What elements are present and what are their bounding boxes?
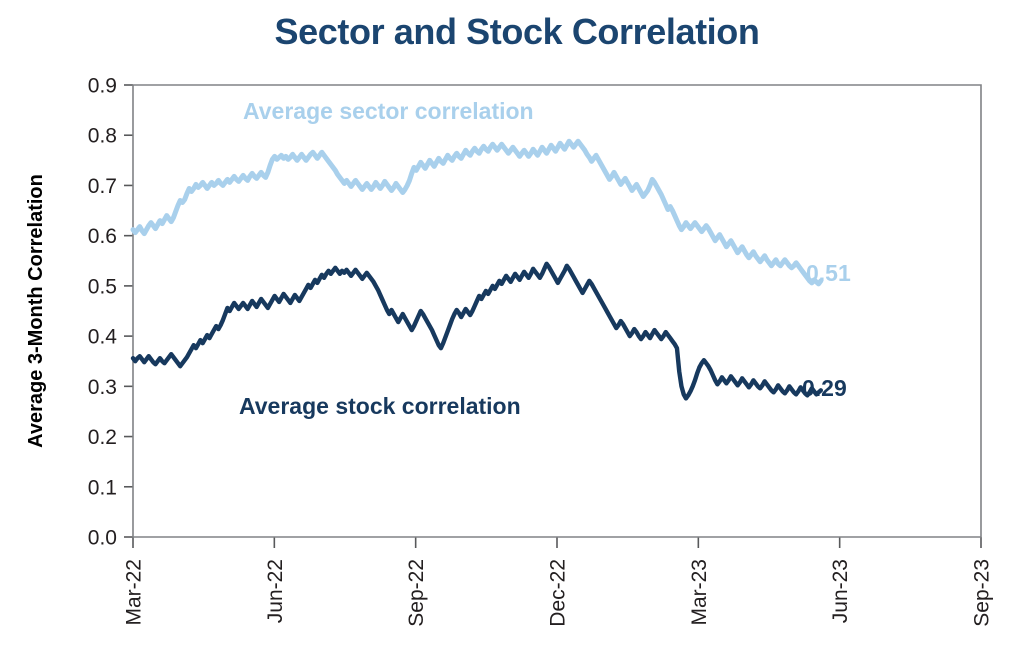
chart-container: Sector and Stock Correlation 0.00.10.20.… [0, 0, 1034, 654]
series-lines [133, 141, 821, 398]
y-axis-title: Average 3-Month Correlation [25, 174, 47, 448]
x-tick-label: Sep-23 [971, 559, 994, 627]
sector-end-value: 0.51 [806, 260, 851, 286]
chart-title: Sector and Stock Correlation [275, 11, 760, 52]
x-tick-label: Mar-23 [688, 559, 711, 626]
y-tick-label: 0.4 [88, 326, 118, 349]
sector-series-label: Average sector correlation [243, 98, 534, 124]
stock-correlation-line [133, 264, 821, 399]
x-tick-label: Dec-22 [547, 559, 570, 627]
sector-correlation-line [133, 141, 821, 284]
x-tick-label: Jun-23 [829, 559, 852, 623]
y-tick-label: 0.1 [88, 476, 117, 499]
x-tick-label: Mar-22 [123, 559, 146, 626]
y-tick-label: 0.3 [88, 376, 117, 399]
stock-series-label: Average stock correlation [239, 393, 521, 419]
y-tick-label: 0.8 [88, 125, 117, 148]
y-tick-label: 0.2 [88, 426, 117, 449]
x-tick-label: Sep-22 [405, 559, 428, 627]
y-axis: 0.00.10.20.30.40.50.60.70.80.9 [88, 75, 133, 550]
stock-end-value: 0.29 [802, 375, 847, 401]
x-axis: Mar-22Jun-22Sep-22Dec-22Mar-23Jun-23Sep-… [123, 537, 994, 627]
y-tick-label: 0.6 [88, 225, 117, 248]
y-tick-label: 0.0 [88, 527, 117, 550]
y-tick-label: 0.7 [88, 175, 117, 198]
y-tick-label: 0.5 [88, 275, 117, 298]
y-tick-label: 0.9 [88, 75, 117, 98]
sector-and-stock-correlation-chart: Sector and Stock Correlation 0.00.10.20.… [0, 0, 1034, 654]
x-tick-label: Jun-22 [264, 559, 287, 623]
